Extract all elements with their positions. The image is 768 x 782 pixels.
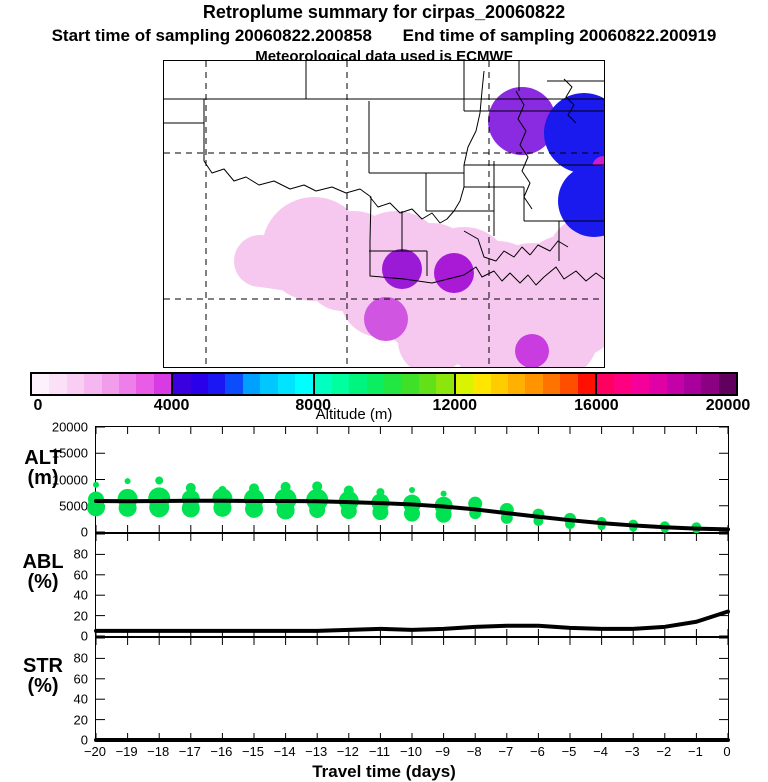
ytick-labels-alt: 05000100001500020000 — [40, 426, 88, 533]
scatter-point — [436, 507, 452, 523]
scatter-point — [125, 478, 131, 484]
ytick-label: 40 — [74, 588, 88, 603]
blob-violet-low — [364, 297, 408, 341]
plot-panel-alt[interactable] — [95, 426, 729, 533]
ytick-label: 20 — [74, 712, 88, 727]
colorbar-swatch — [225, 374, 242, 394]
colorbar-swatch — [614, 374, 631, 394]
timeseries-plots: ALT (m) ABL (%) STR (%) 0500010000150002… — [0, 422, 768, 768]
xtick-label: −9 — [435, 744, 450, 759]
colorbar-swatch — [560, 374, 577, 394]
colorbar-swatch — [313, 374, 332, 394]
colorbar-swatch — [402, 374, 419, 394]
plot-panel-abl[interactable] — [95, 533, 729, 637]
colorbar-swatch — [491, 374, 508, 394]
xtick-label: −16 — [210, 744, 232, 759]
sampling-time-line: Start time of sampling 20060822.200858 E… — [0, 26, 768, 46]
xtick-label: 0 — [723, 744, 730, 759]
colorbar-swatch — [578, 374, 595, 394]
colorbar-swatch — [243, 374, 260, 394]
scatter-point — [441, 491, 447, 497]
colorbar-swatch — [332, 374, 349, 394]
altitude-colorbar[interactable]: 040008000120001600020000 — [30, 372, 738, 396]
xtick-label: −14 — [274, 744, 296, 759]
colorbar-tick-label: 20000 — [706, 397, 751, 415]
colorbar-swatch — [171, 374, 190, 394]
xtick-label: −5 — [562, 744, 577, 759]
xtick-label: −7 — [498, 744, 513, 759]
retroplume-map[interactable] — [163, 60, 605, 368]
colorbar-swatch — [649, 374, 666, 394]
scatter-point — [404, 506, 420, 522]
xtick-label: −10 — [400, 744, 422, 759]
colorbar-swatch — [278, 374, 295, 394]
end-time-label: End time of sampling 20060822.200919 — [403, 26, 717, 46]
xtick-label: −18 — [147, 744, 169, 759]
ytick-label: 20 — [74, 608, 88, 623]
plot-svg-alt — [96, 427, 728, 532]
colorbar-swatch — [208, 374, 225, 394]
colorbar-swatch — [32, 374, 49, 394]
xtick-label: −2 — [656, 744, 671, 759]
xaxis-title: Travel time (days) — [0, 762, 768, 782]
colorbar-swatch — [595, 374, 614, 394]
ytick-label: 5000 — [59, 498, 88, 513]
xtick-label: −20 — [84, 744, 106, 759]
ytick-label: 20000 — [52, 420, 88, 435]
abl-fraction-line — [96, 612, 728, 631]
plume-cloud-layer — [234, 197, 604, 367]
scatter-point — [309, 502, 325, 518]
plot-panel-str[interactable] — [95, 637, 729, 741]
xtick-labels: −20−19−18−17−16−15−14−13−12−11−10−9−8−7−… — [0, 744, 768, 762]
colorbar-swatch — [508, 374, 525, 394]
colorbar-swatch — [154, 374, 171, 394]
axis-ticks-str — [96, 638, 728, 740]
blob-violet-low2 — [515, 334, 549, 367]
xtick-label: −3 — [625, 744, 640, 759]
axis-ticks-abl — [96, 534, 728, 636]
colorbar-swatch — [632, 374, 649, 394]
ytick-label: 80 — [74, 651, 88, 666]
ytick-label: 40 — [74, 692, 88, 707]
colorbar-swatch — [454, 374, 473, 394]
ytick-labels-str: 020406080 — [40, 637, 88, 741]
colorbar-swatch — [543, 374, 560, 394]
colorbar-swatch — [119, 374, 136, 394]
colorbar-swatch — [719, 374, 736, 394]
scatter-point — [409, 487, 415, 493]
colorbar-swatch — [49, 374, 66, 394]
scatter-point — [155, 477, 163, 485]
scatter-point — [341, 503, 357, 519]
xtick-label: −6 — [530, 744, 545, 759]
plot-svg-str — [96, 638, 728, 740]
ytick-labels-abl: 020406080 — [40, 533, 88, 637]
colorbar-swatch — [260, 374, 277, 394]
colorbar-swatch — [684, 374, 701, 394]
scatter-point — [372, 504, 388, 520]
xtick-label: −11 — [369, 744, 390, 759]
colorbar-swatch — [295, 374, 312, 394]
page-title: Retroplume summary for cirpas_20060822 — [0, 2, 768, 23]
colorbar-swatch — [191, 374, 208, 394]
ytick-label: 10000 — [52, 472, 88, 487]
blob-violet-mid — [382, 249, 422, 289]
start-time-label: Start time of sampling 20060822.200858 — [52, 26, 372, 46]
colorbar-swatch — [667, 374, 684, 394]
colorbar-title: Altitude (m) — [0, 406, 708, 423]
xtick-label: −15 — [242, 744, 264, 759]
colorbar-swatch — [701, 374, 718, 394]
xtick-label: −8 — [467, 744, 482, 759]
xtick-label: −13 — [305, 744, 327, 759]
colorbar-swatch — [367, 374, 384, 394]
colorbar-swatch — [384, 374, 401, 394]
scatter-point — [277, 501, 295, 519]
colorbar-swatch — [349, 374, 366, 394]
colorbar-swatch — [84, 374, 101, 394]
colorbar-strip — [30, 372, 738, 396]
ytick-label: 60 — [74, 567, 88, 582]
xtick-label: −4 — [593, 744, 608, 759]
scatter-point — [93, 482, 99, 488]
colorbar-swatch — [102, 374, 119, 394]
plot-svg-abl — [96, 534, 728, 636]
colorbar-swatch — [436, 374, 453, 394]
colorbar-swatch — [525, 374, 542, 394]
colorbar-swatch — [419, 374, 436, 394]
xtick-label: −17 — [179, 744, 201, 759]
xtick-label: −1 — [688, 744, 703, 759]
ytick-label: 15000 — [52, 446, 88, 461]
colorbar-swatch — [136, 374, 153, 394]
xtick-label: −19 — [116, 744, 138, 759]
map-graphic — [164, 61, 604, 367]
colorbar-swatch — [67, 374, 84, 394]
blob-violet-mid2 — [434, 253, 474, 293]
ytick-label: 60 — [74, 671, 88, 686]
ytick-label: 80 — [74, 547, 88, 562]
xtick-label: −12 — [337, 744, 359, 759]
colorbar-swatch — [473, 374, 490, 394]
